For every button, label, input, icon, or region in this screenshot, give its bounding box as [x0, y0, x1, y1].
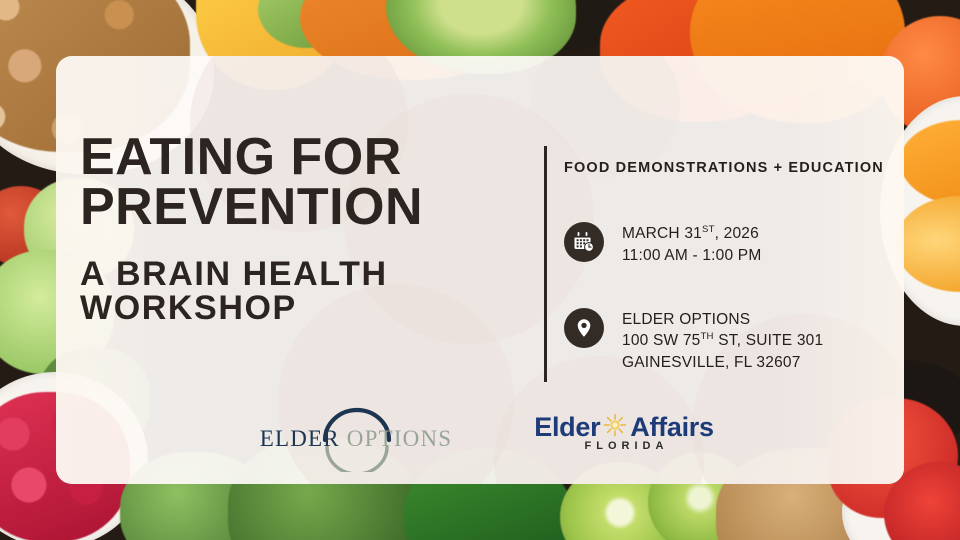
street-prefix: 100 SW 75 [622, 332, 700, 349]
headline-line-1: EATING FOR [80, 132, 540, 182]
venue-name: ELDER OPTIONS [622, 309, 823, 330]
location-row: ELDER OPTIONS 100 SW 75TH ST, SUITE 301 … [564, 308, 894, 373]
page-subtitle: A BRAIN HEALTH WORKSHOP [80, 257, 540, 325]
date-ordinal: ST [702, 224, 715, 235]
elder-options-word-2: OPTIONS [340, 426, 452, 451]
elder-affairs-wordmark: Elder [534, 412, 714, 443]
vertical-divider [544, 146, 547, 382]
subheading-line-2: WORKSHOP [80, 291, 540, 325]
elder-affairs-word-2: Affairs [630, 412, 713, 443]
subheading-line-1: A BRAIN HEALTH [80, 257, 540, 291]
date-time-text: MARCH 31ST, 2026 11:00 AM - 1:00 PM [622, 222, 761, 266]
elder-options-wordmark: ELDER OPTIONS [256, 426, 456, 452]
date-time-row: MARCH 31ST, 2026 11:00 AM - 1:00 PM [564, 222, 894, 266]
details-block: FOOD DEMONSTRATIONS + EDUCATION [564, 160, 894, 373]
calendar-clock-icon [564, 222, 604, 262]
elder-options-logo: ELDER OPTIONS [256, 400, 456, 472]
elder-affairs-word-1: Elder [534, 412, 600, 443]
page-title: EATING FOR PREVENTION [80, 132, 540, 233]
date-prefix: MARCH 31 [622, 225, 702, 242]
location-text: ELDER OPTIONS 100 SW 75TH ST, SUITE 301 … [622, 308, 823, 373]
street-address: 100 SW 75TH ST, SUITE 301 [622, 330, 823, 352]
date-suffix: , 2026 [715, 225, 759, 242]
event-time: 11:00 AM - 1:00 PM [622, 245, 761, 266]
elder-options-word-1: ELDER [260, 426, 340, 451]
map-pin-icon [564, 308, 604, 348]
eyebrow-text: FOOD DEMONSTRATIONS + EDUCATION [564, 160, 894, 176]
city-state-zip: GAINESVILLE, FL 32607 [622, 352, 823, 373]
elder-affairs-logo: Elder [534, 412, 714, 468]
headline-line-2: PREVENTION [80, 182, 540, 232]
street-ordinal: TH [700, 331, 713, 342]
title-block: EATING FOR PREVENTION A BRAIN HEALTH WOR… [80, 132, 540, 325]
sunburst-icon [602, 412, 628, 443]
street-suffix: ST, SUITE 301 [714, 332, 824, 349]
content-card: EATING FOR PREVENTION A BRAIN HEALTH WOR… [56, 56, 904, 484]
event-date: MARCH 31ST, 2026 [622, 223, 761, 245]
